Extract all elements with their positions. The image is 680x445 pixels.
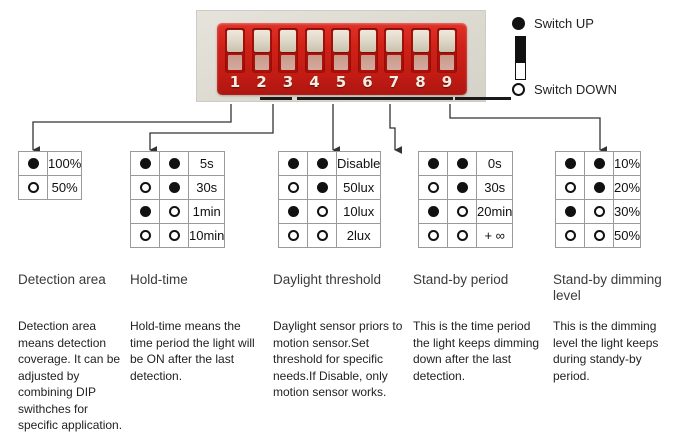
hollow-circle-icon bbox=[594, 206, 605, 217]
filled-circle-icon bbox=[288, 158, 299, 169]
connector-5 bbox=[450, 104, 600, 150]
hollow-circle-icon bbox=[317, 230, 328, 241]
connector-2 bbox=[150, 104, 273, 150]
filled-circle-icon bbox=[565, 158, 576, 169]
config-table-detection-area: 100%50% bbox=[18, 151, 82, 200]
hollow-circle-icon bbox=[457, 206, 468, 217]
setting-value-cell: 0s bbox=[477, 152, 513, 176]
table-row: 50% bbox=[556, 224, 641, 248]
switch-group-tick-4 bbox=[401, 97, 453, 100]
switch-state-cell bbox=[448, 200, 477, 224]
filled-circle-icon bbox=[457, 182, 468, 193]
dip-switch-8[interactable] bbox=[411, 28, 431, 73]
switch-group-tick-1 bbox=[260, 97, 292, 100]
hollow-circle-icon bbox=[457, 230, 468, 241]
dip-switch-number-9: 9 bbox=[437, 73, 457, 91]
column-heading-hold-time: Hold-time bbox=[130, 272, 270, 288]
hollow-circle-icon bbox=[428, 182, 439, 193]
switch-state-cell bbox=[556, 224, 585, 248]
filled-circle-icon bbox=[594, 182, 605, 193]
switch-state-cell bbox=[448, 152, 477, 176]
table-row: 1min bbox=[131, 200, 225, 224]
switch-state-cell bbox=[419, 200, 448, 224]
dip-switch-2[interactable] bbox=[252, 28, 272, 73]
table-row: 10lux bbox=[279, 200, 381, 224]
switch-state-cell bbox=[279, 200, 308, 224]
dip-switch-lever-9[interactable] bbox=[439, 30, 455, 52]
hollow-circle-icon bbox=[594, 230, 605, 241]
config-table-stand-by-dimming-level: 10%20%30%50% bbox=[555, 151, 641, 248]
dip-switch-9[interactable] bbox=[437, 28, 457, 73]
dip-switch-photo: 123456789 bbox=[196, 10, 486, 102]
switch-group-tick-3 bbox=[349, 97, 401, 100]
switch-state-cell bbox=[448, 176, 477, 200]
setting-value-cell: 10min bbox=[189, 224, 225, 248]
filled-circle-icon bbox=[428, 158, 439, 169]
table-row: 30s bbox=[419, 176, 513, 200]
column-description-stand-by-period: This is the time period the light keeps … bbox=[413, 318, 543, 384]
dip-switch-well-1 bbox=[228, 55, 242, 70]
dip-switch-well-2 bbox=[255, 55, 269, 70]
column-description-daylight-threshold: Daylight sensor priors to motion sensor.… bbox=[273, 318, 403, 401]
switch-state-cell bbox=[131, 176, 160, 200]
switch-state-cell bbox=[556, 176, 585, 200]
switch-state-cell bbox=[279, 152, 308, 176]
filled-circle-icon bbox=[594, 158, 605, 169]
connector-4 bbox=[390, 104, 395, 150]
hollow-circle-icon bbox=[140, 182, 151, 193]
hollow-circle-icon bbox=[169, 230, 180, 241]
column-heading-stand-by-period: Stand-by period bbox=[413, 272, 553, 288]
table-row: + ∞ bbox=[419, 224, 513, 248]
switch-state-cell bbox=[585, 200, 614, 224]
dip-switch-number-8: 8 bbox=[411, 73, 431, 91]
filled-circle-icon bbox=[140, 158, 151, 169]
hollow-circle-icon bbox=[140, 230, 151, 241]
dip-switch-lever-8[interactable] bbox=[413, 30, 429, 52]
switch-state-cell bbox=[279, 224, 308, 248]
dip-switch-well-7 bbox=[387, 55, 401, 70]
switch-state-cell bbox=[585, 224, 614, 248]
column-heading-stand-by-dimming-level: Stand-by dimming level bbox=[553, 272, 663, 304]
switch-state-cell bbox=[160, 176, 189, 200]
switch-state-cell bbox=[131, 224, 160, 248]
switch-group-tick-5 bbox=[455, 97, 511, 100]
switch-state-cell bbox=[419, 176, 448, 200]
setting-value-cell: 1min bbox=[189, 200, 225, 224]
setting-value-cell: 50% bbox=[614, 224, 641, 248]
column-description-stand-by-dimming-level: This is the dimming level the light keep… bbox=[553, 318, 671, 384]
switch-state-cell bbox=[556, 200, 585, 224]
filled-circle-icon bbox=[512, 17, 525, 30]
legend-up-label: Switch UP bbox=[534, 16, 594, 31]
hollow-circle-icon bbox=[565, 230, 576, 241]
hollow-circle-icon bbox=[565, 182, 576, 193]
dip-switch-well-8 bbox=[414, 55, 428, 70]
setting-value-cell: Disable bbox=[337, 152, 381, 176]
setting-value-cell: + ∞ bbox=[477, 224, 513, 248]
setting-value-cell: 20min bbox=[477, 200, 513, 224]
dip-switch-well-5 bbox=[334, 55, 348, 70]
hollow-circle-icon bbox=[512, 83, 525, 96]
legend-row-up: Switch UP bbox=[512, 16, 594, 31]
switch-state-cell bbox=[160, 224, 189, 248]
filled-circle-icon bbox=[288, 206, 299, 217]
switch-state-cell bbox=[308, 152, 337, 176]
setting-value-cell: 50lux bbox=[337, 176, 381, 200]
filled-circle-icon bbox=[428, 206, 439, 217]
table-row: 50% bbox=[19, 176, 82, 200]
switch-state-cell bbox=[419, 224, 448, 248]
setting-value-cell: 100% bbox=[48, 152, 82, 176]
dip-switch-lever-7[interactable] bbox=[386, 30, 402, 52]
dip-switch-well-3 bbox=[281, 55, 295, 70]
dip-switch-number-3: 3 bbox=[278, 73, 298, 91]
hollow-circle-icon bbox=[28, 182, 39, 193]
column-heading-daylight-threshold: Daylight threshold bbox=[273, 272, 413, 288]
column-description-detection-area: Detection area means detection coverage.… bbox=[18, 318, 123, 434]
dip-switch-body: 123456789 bbox=[217, 23, 467, 95]
legend: Switch UP Switch DOWN bbox=[512, 16, 672, 102]
filled-circle-icon bbox=[565, 206, 576, 217]
switch-state-cell bbox=[131, 200, 160, 224]
dip-switch-number-4: 4 bbox=[305, 73, 325, 91]
switch-state-cell bbox=[19, 176, 48, 200]
table-row: 20min bbox=[419, 200, 513, 224]
switch-state-cell bbox=[160, 152, 189, 176]
table-row: 2lux bbox=[279, 224, 381, 248]
dip-switch-number-6: 6 bbox=[358, 73, 378, 91]
dip-switch-number-1: 1 bbox=[225, 73, 245, 91]
hollow-circle-icon bbox=[288, 182, 299, 193]
filled-circle-icon bbox=[28, 158, 39, 169]
switch-state-cell bbox=[419, 152, 448, 176]
switch-state-cell bbox=[308, 176, 337, 200]
table-row: 30% bbox=[556, 200, 641, 224]
dip-switch-lever-4[interactable] bbox=[307, 30, 323, 52]
table-row: 50lux bbox=[279, 176, 381, 200]
table-row: 0s bbox=[419, 152, 513, 176]
switch-position-bar-icon bbox=[515, 36, 526, 80]
setting-value-cell: 10% bbox=[614, 152, 641, 176]
switch-state-cell bbox=[556, 152, 585, 176]
dip-switch-well-4 bbox=[308, 55, 322, 70]
filled-circle-icon bbox=[317, 182, 328, 193]
switch-state-cell bbox=[308, 200, 337, 224]
switch-state-cell bbox=[448, 224, 477, 248]
table-row: Disable bbox=[279, 152, 381, 176]
switch-state-cell bbox=[19, 152, 48, 176]
dip-switch-5[interactable] bbox=[331, 28, 351, 73]
config-table-daylight-threshold: Disable50lux10lux2lux bbox=[278, 151, 381, 248]
dip-switch-lever-3[interactable] bbox=[280, 30, 296, 52]
dip-switch-6[interactable] bbox=[358, 28, 378, 73]
filled-circle-icon bbox=[140, 206, 151, 217]
table-row: 10% bbox=[556, 152, 641, 176]
table-row: 30s bbox=[131, 176, 225, 200]
setting-value-cell: 5s bbox=[189, 152, 225, 176]
dip-switch-well-9 bbox=[440, 55, 454, 70]
dip-switch-lever-1[interactable] bbox=[227, 30, 243, 52]
setting-value-cell: 50% bbox=[48, 176, 82, 200]
filled-circle-icon bbox=[169, 158, 180, 169]
hollow-circle-icon bbox=[288, 230, 299, 241]
hollow-circle-icon bbox=[317, 206, 328, 217]
legend-down-label: Switch DOWN bbox=[534, 82, 617, 97]
setting-value-cell: 2lux bbox=[337, 224, 381, 248]
dip-switch-lever-6[interactable] bbox=[360, 30, 376, 52]
config-table-stand-by-period: 0s30s20min+ ∞ bbox=[418, 151, 513, 248]
switch-state-cell bbox=[585, 152, 614, 176]
switch-state-cell bbox=[131, 152, 160, 176]
column-description-hold-time: Hold-time means the time period the ligh… bbox=[130, 318, 260, 384]
dip-switch-number-7: 7 bbox=[384, 73, 404, 91]
dip-switch-number-5: 5 bbox=[331, 73, 351, 91]
dip-switch-1[interactable] bbox=[225, 28, 245, 73]
table-row: 20% bbox=[556, 176, 641, 200]
hollow-circle-icon bbox=[169, 206, 180, 217]
table-row: 100% bbox=[19, 152, 82, 176]
switch-state-cell bbox=[160, 200, 189, 224]
setting-value-cell: 30% bbox=[614, 200, 641, 224]
switch-state-cell bbox=[308, 224, 337, 248]
switch-state-cell bbox=[279, 176, 308, 200]
dip-switch-well-6 bbox=[361, 55, 375, 70]
filled-circle-icon bbox=[457, 158, 468, 169]
legend-row-down: Switch DOWN bbox=[512, 82, 617, 97]
switch-state-cell bbox=[585, 176, 614, 200]
setting-value-cell: 30s bbox=[477, 176, 513, 200]
table-row: 5s bbox=[131, 152, 225, 176]
connector-1 bbox=[33, 104, 231, 150]
dip-switch-7[interactable] bbox=[384, 28, 404, 73]
config-table-hold-time: 5s30s1min10min bbox=[130, 151, 225, 248]
dip-switch-lever-5[interactable] bbox=[333, 30, 349, 52]
dip-switch-3[interactable] bbox=[278, 28, 298, 73]
filled-circle-icon bbox=[169, 182, 180, 193]
filled-circle-icon bbox=[317, 158, 328, 169]
dip-switch-lever-2[interactable] bbox=[254, 30, 270, 52]
setting-value-cell: 20% bbox=[614, 176, 641, 200]
hollow-circle-icon bbox=[428, 230, 439, 241]
setting-value-cell: 10lux bbox=[337, 200, 381, 224]
dip-switch-4[interactable] bbox=[305, 28, 325, 73]
setting-value-cell: 30s bbox=[189, 176, 225, 200]
table-row: 10min bbox=[131, 224, 225, 248]
switch-group-tick-2 bbox=[297, 97, 349, 100]
dip-switch-number-2: 2 bbox=[252, 73, 272, 91]
